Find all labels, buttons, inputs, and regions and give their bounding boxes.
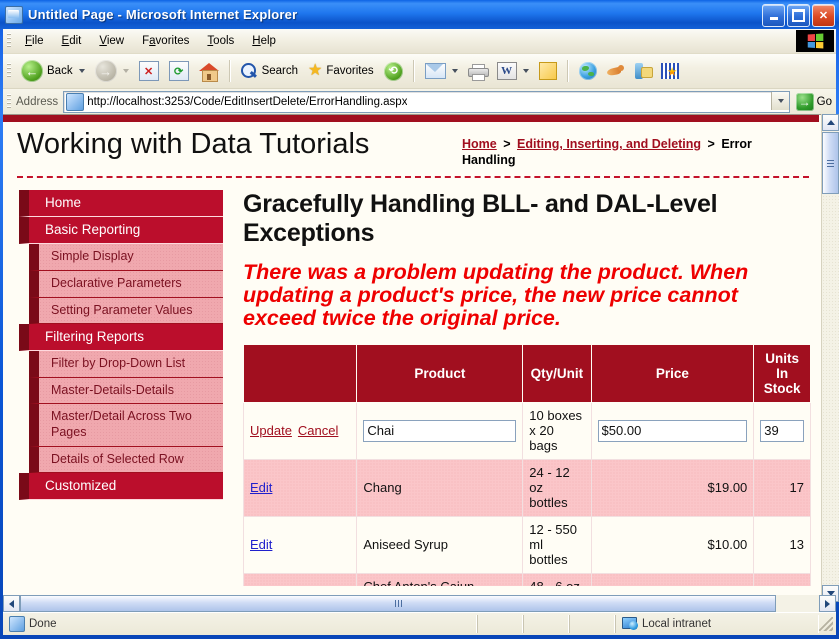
maximize-button[interactable] [787, 4, 810, 27]
sidebar-item-customized[interactable]: Customized [19, 473, 223, 500]
sidebar-nav: Home Basic Reporting Simple Display Decl… [19, 190, 223, 500]
menu-gripper[interactable] [7, 33, 11, 49]
update-link[interactable]: Update [250, 423, 292, 438]
col-header-units-in-stock: Units In Stock [754, 344, 811, 402]
sidebar-item-basic-reporting[interactable]: Basic Reporting [19, 217, 223, 244]
sidebar-item-master-detail-across-two-pages[interactable]: Master/Detail Across Two Pages [29, 404, 223, 446]
minimize-button[interactable] [762, 4, 785, 27]
messenger-button[interactable] [602, 62, 630, 80]
research-icon [635, 63, 651, 79]
favorites-button[interactable]: ★ Favorites [303, 61, 379, 81]
row-product-cell: Chang [357, 459, 523, 516]
encarta-icon [661, 63, 679, 79]
table-row: UpdateCancel 10 boxes x 20 bags [244, 402, 811, 459]
forward-dropdown-icon[interactable] [123, 69, 129, 73]
sidebar-item-home[interactable]: Home [19, 190, 223, 217]
toolbar-separator-1 [229, 60, 231, 82]
page-icon [66, 93, 84, 111]
home-button[interactable] [194, 61, 224, 82]
address-gripper[interactable] [7, 94, 11, 110]
browser-chrome: File Edit View Favorites Tools Help ← Ba… [3, 29, 836, 114]
sidebar-item-simple-display[interactable]: Simple Display [29, 244, 223, 271]
chevron-up-icon [827, 120, 835, 125]
horizontal-scrollbar[interactable] [3, 595, 836, 612]
table-row: Chef Anton's Cajun 48 - 6 oz [244, 573, 811, 586]
row-units-cell [754, 402, 811, 459]
status-bar: Done Local intranet [3, 612, 836, 635]
row-qty-cell: 12 - 550 ml bottles [523, 516, 591, 573]
chevron-down-icon [778, 99, 784, 103]
word-icon: W [497, 62, 517, 80]
mail-button[interactable] [420, 61, 463, 81]
vertical-scrollbar[interactable] [821, 114, 839, 602]
standard-toolbar: ← Back → ✕ ⟳ Search ★ [3, 54, 836, 89]
row-product-cell: Aniseed Syrup [357, 516, 523, 573]
encarta-button[interactable] [656, 61, 684, 81]
search-label: Search [262, 65, 298, 77]
sidebar-item-filter-by-drop-down-list[interactable]: Filter by Drop-Down List [29, 351, 223, 378]
page-viewport: Working with Data Tutorials Home > Editi… [3, 114, 836, 603]
edit-with-word-button[interactable]: W [492, 60, 534, 82]
row-price-cell [591, 573, 754, 586]
scroll-left-button[interactable] [3, 595, 20, 612]
star-icon: ★ [308, 63, 322, 79]
cancel-link[interactable]: Cancel [298, 423, 338, 438]
address-url: http://localhost:3253/Code/EditInsertDel… [87, 96, 407, 108]
mail-icon [425, 63, 446, 79]
toolbar-separator-2 [413, 60, 415, 82]
edit-link[interactable]: Edit [250, 480, 272, 495]
vertical-scroll-thumb[interactable] [822, 132, 839, 194]
scroll-right-button[interactable] [819, 595, 836, 612]
sidebar-item-declarative-parameters[interactable]: Declarative Parameters [29, 271, 223, 298]
status-zone-cell[interactable]: Local intranet [615, 615, 819, 633]
local-intranet-icon [622, 617, 638, 631]
web-page: Working with Data Tutorials Home > Editi… [3, 115, 819, 586]
menu-tools[interactable]: Tools [198, 32, 243, 50]
status-text: Done [29, 618, 57, 630]
breadcrumb-section-link[interactable]: Editing, Inserting, and Deleting [517, 137, 701, 151]
discuss-button[interactable] [534, 60, 562, 82]
row-product-cell: Chef Anton's Cajun [357, 573, 523, 586]
back-label: Back [47, 65, 73, 77]
toolbar-gripper[interactable] [7, 63, 11, 79]
col-header-price: Price [591, 344, 754, 402]
status-blank-cell [569, 615, 615, 633]
history-icon: ⟲ [384, 62, 403, 81]
product-name-input[interactable] [363, 420, 516, 442]
back-dropdown-icon[interactable] [79, 69, 85, 73]
chevron-right-icon [825, 600, 830, 608]
status-text-cell: Done [3, 615, 477, 633]
breadcrumb-separator-1: > [503, 137, 510, 151]
error-message: There was a problem updating the product… [243, 261, 811, 329]
printer-icon [468, 64, 487, 79]
page-body: Home Basic Reporting Simple Display Decl… [3, 178, 819, 586]
go-label: Go [817, 96, 832, 108]
row-product-cell [357, 402, 523, 459]
status-blank-cell [523, 615, 569, 633]
go-button[interactable]: → Go [796, 93, 832, 111]
edit-dropdown-icon[interactable] [523, 69, 529, 73]
close-button[interactable]: ✕ [812, 4, 835, 27]
sidebar-item-setting-parameter-values[interactable]: Setting Parameter Values [29, 298, 223, 325]
status-spacer-cells [477, 615, 615, 633]
col-header-qty-unit: Qty/Unit [523, 344, 591, 402]
ie-brand-logo [796, 30, 834, 52]
search-button[interactable]: Search [236, 61, 303, 82]
sidebar-item-filtering-reports[interactable]: Filtering Reports [19, 324, 223, 351]
refresh-icon: ⟳ [169, 61, 189, 81]
units-in-stock-input[interactable] [760, 420, 804, 442]
resize-grip[interactable] [819, 617, 833, 631]
row-qty-cell: 10 boxes x 20 bags [523, 402, 591, 459]
forward-button[interactable]: → [90, 58, 134, 84]
breadcrumb-separator-2: > [708, 137, 715, 151]
row-units-cell: 17 [754, 459, 811, 516]
content-heading: Gracefully Handling BLL- and DAL-Level E… [243, 190, 811, 247]
row-commands-cell: UpdateCancel [244, 402, 357, 459]
grid-header-row: Product Qty/Unit Price Units In Stock [244, 344, 811, 402]
row-commands-cell: Edit [244, 516, 357, 573]
window-title: Untitled Page - Microsoft Internet Explo… [28, 7, 297, 22]
row-commands-cell: Edit [244, 459, 357, 516]
back-icon: ← [21, 60, 43, 82]
grip-icon [395, 600, 402, 607]
row-units-cell [754, 573, 811, 586]
window-controls: ✕ [762, 4, 835, 27]
note-icon [539, 62, 557, 80]
address-dropdown-button[interactable] [771, 92, 789, 110]
row-qty-cell: 24 - 12 oz bottles [523, 459, 591, 516]
table-row: Edit Chang 24 - 12 oz bottles $19.00 17 [244, 459, 811, 516]
menu-edit[interactable]: Edit [53, 32, 91, 50]
browser-window: Untitled Page - Microsoft Internet Explo… [0, 0, 839, 639]
horizontal-scroll-track[interactable] [20, 595, 819, 612]
menu-bar: File Edit View Favorites Tools Help [3, 29, 836, 54]
close-icon: ✕ [819, 9, 828, 22]
price-input[interactable] [598, 420, 748, 442]
edit-link[interactable]: Edit [250, 537, 272, 552]
toolbar-separator-3 [567, 60, 569, 82]
row-qty-cell: 48 - 6 oz [523, 573, 591, 586]
windows-flag-icon [808, 33, 824, 48]
title-bar: Untitled Page - Microsoft Internet Explo… [0, 0, 839, 29]
status-blank-cell [477, 615, 523, 633]
breadcrumb: Home > Editing, Inserting, and Deleting … [462, 128, 807, 168]
status-page-icon [9, 616, 25, 632]
menu-file[interactable]: File [16, 32, 53, 50]
sidebar-item-details-of-selected-row[interactable]: Details of Selected Row [29, 447, 223, 474]
page-header: Working with Data Tutorials Home > Editi… [3, 122, 819, 172]
back-button[interactable]: ← Back [16, 58, 90, 84]
menu-favorites[interactable]: Favorites [133, 32, 198, 50]
address-label: Address [16, 96, 58, 108]
page-top-rule [3, 115, 819, 122]
col-header-product: Product [357, 344, 523, 402]
horizontal-scroll-thumb[interactable] [20, 595, 776, 612]
row-price-cell [591, 402, 754, 459]
msn-butterfly-icon [607, 64, 625, 78]
col-header-commands [244, 344, 357, 402]
row-commands-cell [244, 573, 357, 586]
chevron-left-icon [9, 600, 14, 608]
page-title: Working with Data Tutorials [17, 128, 369, 160]
favorites-label: Favorites [326, 65, 373, 77]
ie-page-icon [5, 6, 23, 24]
print-button[interactable] [463, 62, 492, 81]
grip-icon [827, 160, 834, 167]
research-button[interactable] [630, 61, 656, 81]
menu-view[interactable]: View [90, 32, 133, 50]
address-input[interactable]: http://localhost:3253/Code/EditInsertDel… [63, 91, 789, 113]
mail-dropdown-icon[interactable] [452, 69, 458, 73]
main-content: Gracefully Handling BLL- and DAL-Level E… [223, 190, 819, 586]
minimize-icon [770, 17, 778, 20]
msn-button[interactable] [574, 60, 602, 82]
scroll-up-button[interactable] [822, 114, 839, 131]
products-grid: Product Qty/Unit Price Units In Stock Up… [243, 344, 811, 586]
row-price-cell: $10.00 [591, 516, 754, 573]
maximize-icon [792, 9, 805, 22]
go-arrow-icon: → [796, 93, 814, 111]
row-units-cell: 13 [754, 516, 811, 573]
history-button[interactable]: ⟲ [379, 60, 408, 83]
stop-icon: ✕ [139, 61, 159, 81]
breadcrumb-home-link[interactable]: Home [462, 137, 497, 151]
address-bar: Address http://localhost:3253/Code/EditI… [3, 89, 836, 116]
forward-icon: → [95, 60, 117, 82]
status-zone-text: Local intranet [642, 618, 711, 630]
globe-icon [579, 62, 597, 80]
row-price-cell: $19.00 [591, 459, 754, 516]
sidebar-item-master-details-details[interactable]: Master-Details-Details [29, 378, 223, 405]
home-icon [199, 63, 219, 80]
refresh-button[interactable]: ⟳ [164, 59, 194, 83]
menu-help[interactable]: Help [243, 32, 285, 50]
stop-button[interactable]: ✕ [134, 59, 164, 83]
search-icon [241, 63, 258, 80]
table-row: Edit Aniseed Syrup 12 - 550 ml bottles $… [244, 516, 811, 573]
